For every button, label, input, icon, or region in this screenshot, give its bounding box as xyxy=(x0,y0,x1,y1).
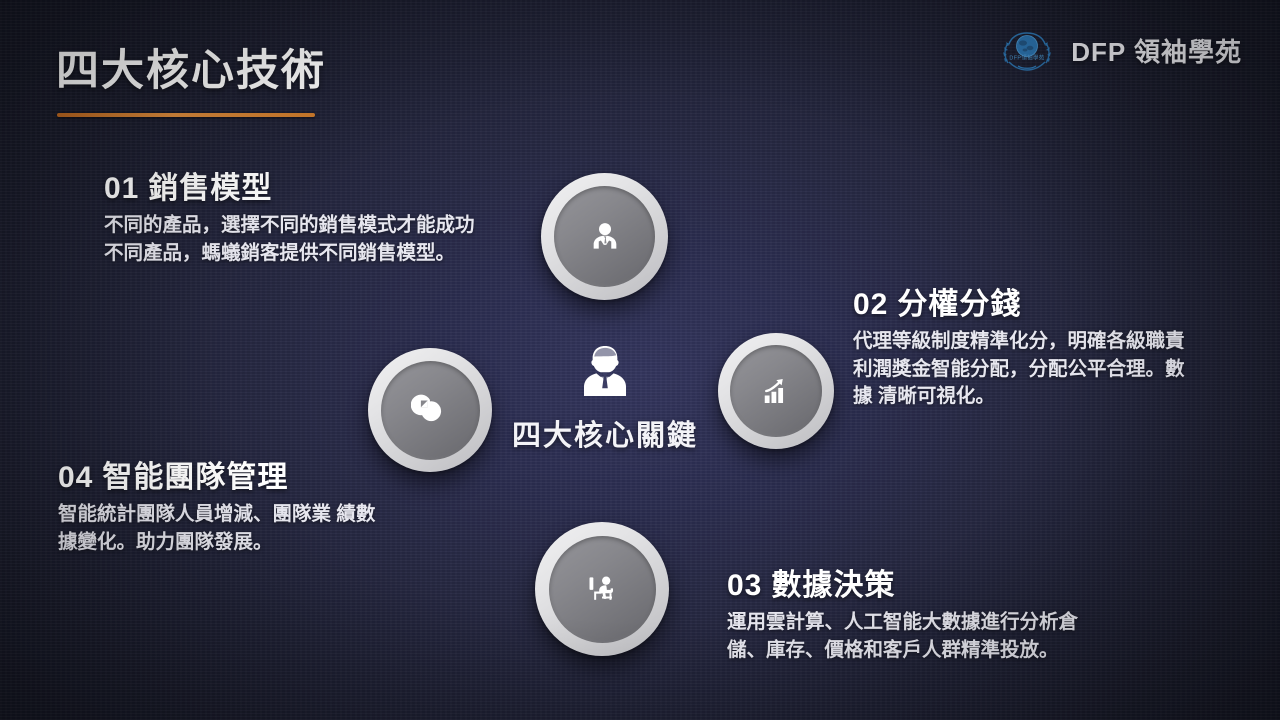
feature-04-number: 04 xyxy=(58,461,93,494)
feature-02-desc-line: 代理等級制度精準化分，明確各級職責 xyxy=(853,328,1185,356)
feature-block-01: 01銷售模型 不同的產品，選擇不同的銷售模式才能成功 不同產品，螞蟻銷客提供不同… xyxy=(104,163,475,267)
feature-03-number: 03 xyxy=(727,569,762,602)
person-at-desk-icon xyxy=(582,569,622,609)
feature-03-title: 數據決策 xyxy=(771,569,895,602)
feature-block-02: 02分權分錢 代理等級制度精準化分，明確各級職責 利潤獎金智能分配，分配公平合理… xyxy=(853,279,1185,411)
feature-02-desc-line: 利潤獎金智能分配，分配公平合理。數 xyxy=(853,356,1185,384)
center-cluster: 四大核心關鍵 xyxy=(505,340,705,454)
feature-01-desc-line: 不同的產品，選擇不同的銷售模式才能成功 xyxy=(104,212,475,240)
feature-04-title: 智能團隊管理 xyxy=(102,461,288,494)
feature-01-number: 01 xyxy=(104,172,139,205)
feature-01-description: 不同的產品，選擇不同的銷售模式才能成功 不同產品，螞蟻銷客提供不同銷售模型。 xyxy=(104,212,475,267)
feature-04-heading: 04智能團隊管理 xyxy=(58,452,375,496)
node-circle-02-inner xyxy=(730,345,822,437)
feature-02-description: 代理等級制度精準化分，明確各級職責 利潤獎金智能分配，分配公平合理。數 據 清晰… xyxy=(853,328,1185,411)
brand-lockup: DFP領袖學苑 DFP 領袖學苑 xyxy=(996,26,1242,74)
node-circle-01-inner xyxy=(554,186,655,287)
businessman-avatar-icon xyxy=(574,340,636,402)
feature-03-desc-line: 運用雲計算、人工智能大數據進行分析倉 xyxy=(727,609,1078,637)
person-user-icon xyxy=(585,217,625,257)
feature-04-desc-line: 智能統計團隊人員增減、團隊業 績數 xyxy=(58,501,375,529)
node-circle-01[interactable] xyxy=(541,173,668,300)
node-circle-03[interactable] xyxy=(535,522,669,656)
feature-block-04: 04智能團隊管理 智能統計團隊人員增減、團隊業 績數 據變化。助力團隊發展。 xyxy=(58,452,375,556)
feature-02-title: 分權分錢 xyxy=(897,288,1021,321)
feature-04-description: 智能統計團隊人員增減、團隊業 績數 據變化。助力團隊發展。 xyxy=(58,501,375,556)
feature-03-description: 運用雲計算、人工智能大數據進行分析倉 儲、庫存、價格和客戶人群精準投放。 xyxy=(727,609,1078,664)
node-circle-02[interactable] xyxy=(718,333,834,449)
pie-chart-icon xyxy=(411,391,449,429)
feature-04-desc-line: 據變化。助力團隊發展。 xyxy=(58,529,375,557)
feature-03-desc-line: 儲、庫存、價格和客戶人群精準投放。 xyxy=(727,637,1078,665)
feature-01-desc-line: 不同產品，螞蟻銷客提供不同銷售模型。 xyxy=(104,240,475,268)
globe-laurel-logo-icon: DFP領袖學苑 xyxy=(996,26,1058,74)
node-circle-04-inner xyxy=(381,361,480,460)
node-circle-03-inner xyxy=(549,536,656,643)
title-underline-rule xyxy=(57,113,315,117)
feature-01-heading: 01銷售模型 xyxy=(104,163,475,207)
slide-canvas: 四大核心技術 xyxy=(0,0,1280,720)
node-circle-04[interactable] xyxy=(368,348,492,472)
center-label: 四大核心關鍵 xyxy=(512,412,698,454)
feature-03-heading: 03數據決策 xyxy=(727,560,1078,604)
feature-block-03: 03數據決策 運用雲計算、人工智能大數據進行分析倉 儲、庫存、價格和客戶人群精準… xyxy=(727,560,1078,664)
feature-02-heading: 02分權分錢 xyxy=(853,279,1185,323)
feature-02-desc-line: 據 清晰可視化。 xyxy=(853,383,1185,411)
feature-02-number: 02 xyxy=(853,288,888,321)
feature-01-title: 銷售模型 xyxy=(148,172,272,205)
brand-name: DFP 領袖學苑 xyxy=(1071,32,1242,69)
page-title: 四大核心技術 xyxy=(56,36,326,98)
svg-text:DFP領袖學苑: DFP領袖學苑 xyxy=(1010,54,1045,62)
bar-chart-growth-icon xyxy=(758,373,794,409)
